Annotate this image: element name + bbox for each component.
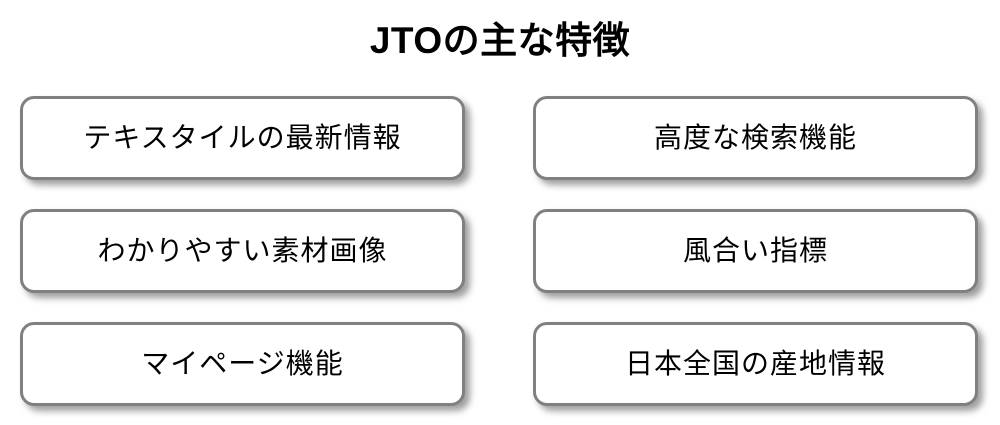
page-title: JTOの主な特徴	[0, 20, 1000, 63]
feature-box-texture-index[interactable]: 風合い指標	[533, 209, 978, 293]
feature-label: 高度な検索機能	[654, 121, 857, 155]
feature-label: マイページ機能	[141, 347, 343, 381]
feature-box-advanced-search[interactable]: 高度な検索機能	[533, 96, 978, 180]
feature-slide: JTOの主な特徴 テキスタイルの最新情報 高度な検索機能 わかりやすい素材画像 …	[0, 0, 1000, 425]
feature-box-material-images[interactable]: わかりやすい素材画像	[20, 209, 465, 293]
feature-box-my-page[interactable]: マイページ機能	[20, 322, 465, 406]
feature-box-nationwide-production-info[interactable]: 日本全国の産地情報	[533, 322, 978, 406]
feature-box-textile-latest-info[interactable]: テキスタイルの最新情報	[20, 96, 465, 180]
feature-grid: テキスタイルの最新情報 高度な検索機能 わかりやすい素材画像 風合い指標 マイペ…	[20, 96, 978, 406]
feature-label: 日本全国の産地情報	[625, 347, 886, 381]
feature-label: テキスタイルの最新情報	[83, 121, 401, 155]
feature-label: 風合い指標	[683, 234, 828, 268]
feature-label: わかりやすい素材画像	[97, 234, 387, 268]
